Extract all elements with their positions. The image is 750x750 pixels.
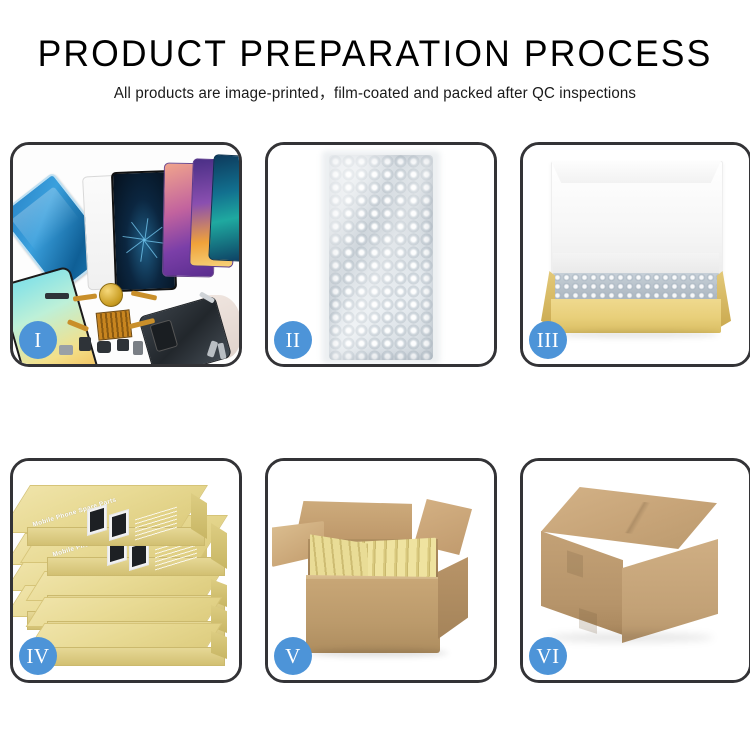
carton-front-panel — [306, 579, 440, 653]
small-component — [59, 345, 73, 355]
step-badge-2: II — [274, 321, 312, 359]
carton-side-right — [438, 557, 468, 639]
process-step-6[interactable]: VI — [520, 458, 750, 683]
small-component — [133, 341, 143, 355]
step-badge-1: I — [19, 321, 57, 359]
crack-lines — [144, 240, 145, 241]
page-title: PRODUCT PREPARATION PROCESS — [15, 0, 735, 75]
small-component — [117, 339, 129, 351]
process-step-grid: I II III — [0, 140, 750, 685]
process-step-2[interactable]: II — [265, 142, 497, 367]
carton-right-face — [622, 539, 718, 643]
step-badge-3: III — [529, 321, 567, 359]
teal-wave-phone — [208, 154, 242, 262]
bubble-wrapped-contents — [553, 273, 719, 301]
carton-shadow — [308, 649, 448, 657]
page-subtitle: All products are image-printed，film-coat… — [11, 75, 739, 104]
step-badge-5: V — [274, 637, 312, 675]
box-shadow — [553, 331, 719, 338]
small-component — [79, 337, 91, 351]
white-box-lid-fold — [551, 161, 721, 183]
box-stack: Mobile Phone Spare Parts Mobile Phone Sp… — [19, 479, 237, 669]
battery-connector — [45, 293, 69, 299]
ic-chip-grid — [96, 309, 133, 340]
carton-shadow — [547, 633, 713, 642]
step-badge-4: IV — [19, 637, 57, 675]
process-step-1[interactable]: I — [10, 142, 242, 367]
speaker-module — [99, 283, 123, 307]
box-front-panel — [551, 299, 721, 333]
process-step-4[interactable]: Mobile Phone Spare Parts Mobile Phone Sp… — [10, 458, 242, 683]
step-badge-6: VI — [529, 637, 567, 675]
header: PRODUCT PREPARATION PROCESS All products… — [0, 0, 750, 104]
bubble-wrap-gloss — [329, 155, 433, 360]
process-step-5[interactable]: V — [265, 458, 497, 683]
process-step-3[interactable]: III — [520, 142, 750, 367]
infographic-page: PRODUCT PREPARATION PROCESS All products… — [0, 0, 750, 750]
small-component — [97, 341, 111, 353]
flex-cable — [131, 290, 157, 300]
